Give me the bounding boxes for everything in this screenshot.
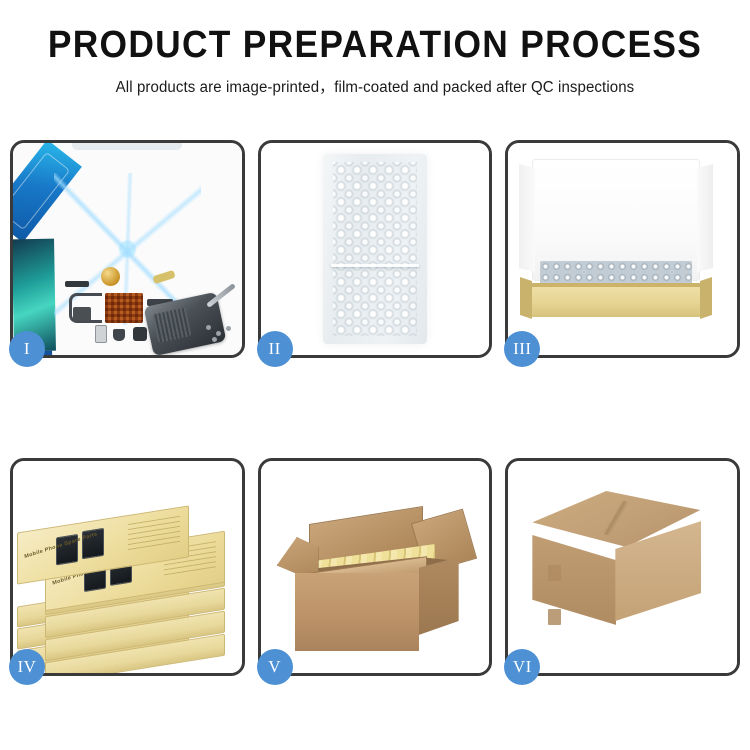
- product-preparation-infographic: PRODUCT PREPARATION PROCESS All products…: [0, 0, 750, 750]
- mailer-box-front-icon: [530, 287, 702, 317]
- carton-body-front: [295, 573, 419, 651]
- step-4-image: Mobile Phone Spare Parts Mobile Phone Sp…: [13, 461, 242, 673]
- step-3-image: [508, 143, 737, 355]
- process-step-1: I: [10, 140, 245, 358]
- step-5-image: [261, 461, 490, 673]
- sealed-carton-left-face: [532, 535, 616, 625]
- bubble-wrap-sleeve-icon: [323, 154, 427, 344]
- printed-spec-lines: [128, 516, 180, 554]
- page-title: PRODUCT PREPARATION PROCESS: [26, 26, 724, 66]
- small-part-icon: [95, 325, 107, 343]
- box-stack-icon: Mobile Phone Spare Parts Mobile Phone Sp…: [17, 483, 223, 669]
- process-step-6: VI: [505, 458, 740, 676]
- page-subtitle: All products are image-printed，film-coat…: [11, 75, 739, 97]
- wrap-seam: [331, 264, 419, 267]
- process-step-3: III: [505, 140, 740, 358]
- process-step-4: Mobile Phone Spare Parts Mobile Phone Sp…: [10, 458, 245, 676]
- step-1-image: [13, 143, 242, 355]
- screws-icon: [206, 325, 232, 343]
- step-2-image: [261, 143, 490, 355]
- process-step-2: II: [258, 140, 493, 358]
- carton-tab: [548, 609, 561, 625]
- step-badge-1: I: [9, 331, 45, 367]
- step-badge-2: II: [257, 331, 293, 367]
- copper-disc-part-icon: [101, 267, 120, 286]
- bubble-pattern: [333, 162, 417, 336]
- carton-tab: [548, 565, 561, 581]
- process-step-grid: I II III: [10, 140, 740, 676]
- step-badge-3: III: [504, 331, 540, 367]
- small-part-icon: [65, 281, 89, 287]
- small-part-icon: [73, 307, 91, 321]
- step-badge-6: VI: [504, 649, 540, 685]
- carton-body-side: [419, 557, 459, 635]
- connector-grid-part-icon: [105, 293, 143, 323]
- step-badge-5: V: [257, 649, 293, 685]
- header: PRODUCT PREPARATION PROCESS All products…: [0, 0, 750, 97]
- step-badge-4: IV: [9, 649, 45, 685]
- small-part-icon: [133, 327, 147, 341]
- step-6-image: [508, 461, 737, 673]
- small-part-icon: [113, 329, 125, 341]
- process-step-5: V: [258, 458, 493, 676]
